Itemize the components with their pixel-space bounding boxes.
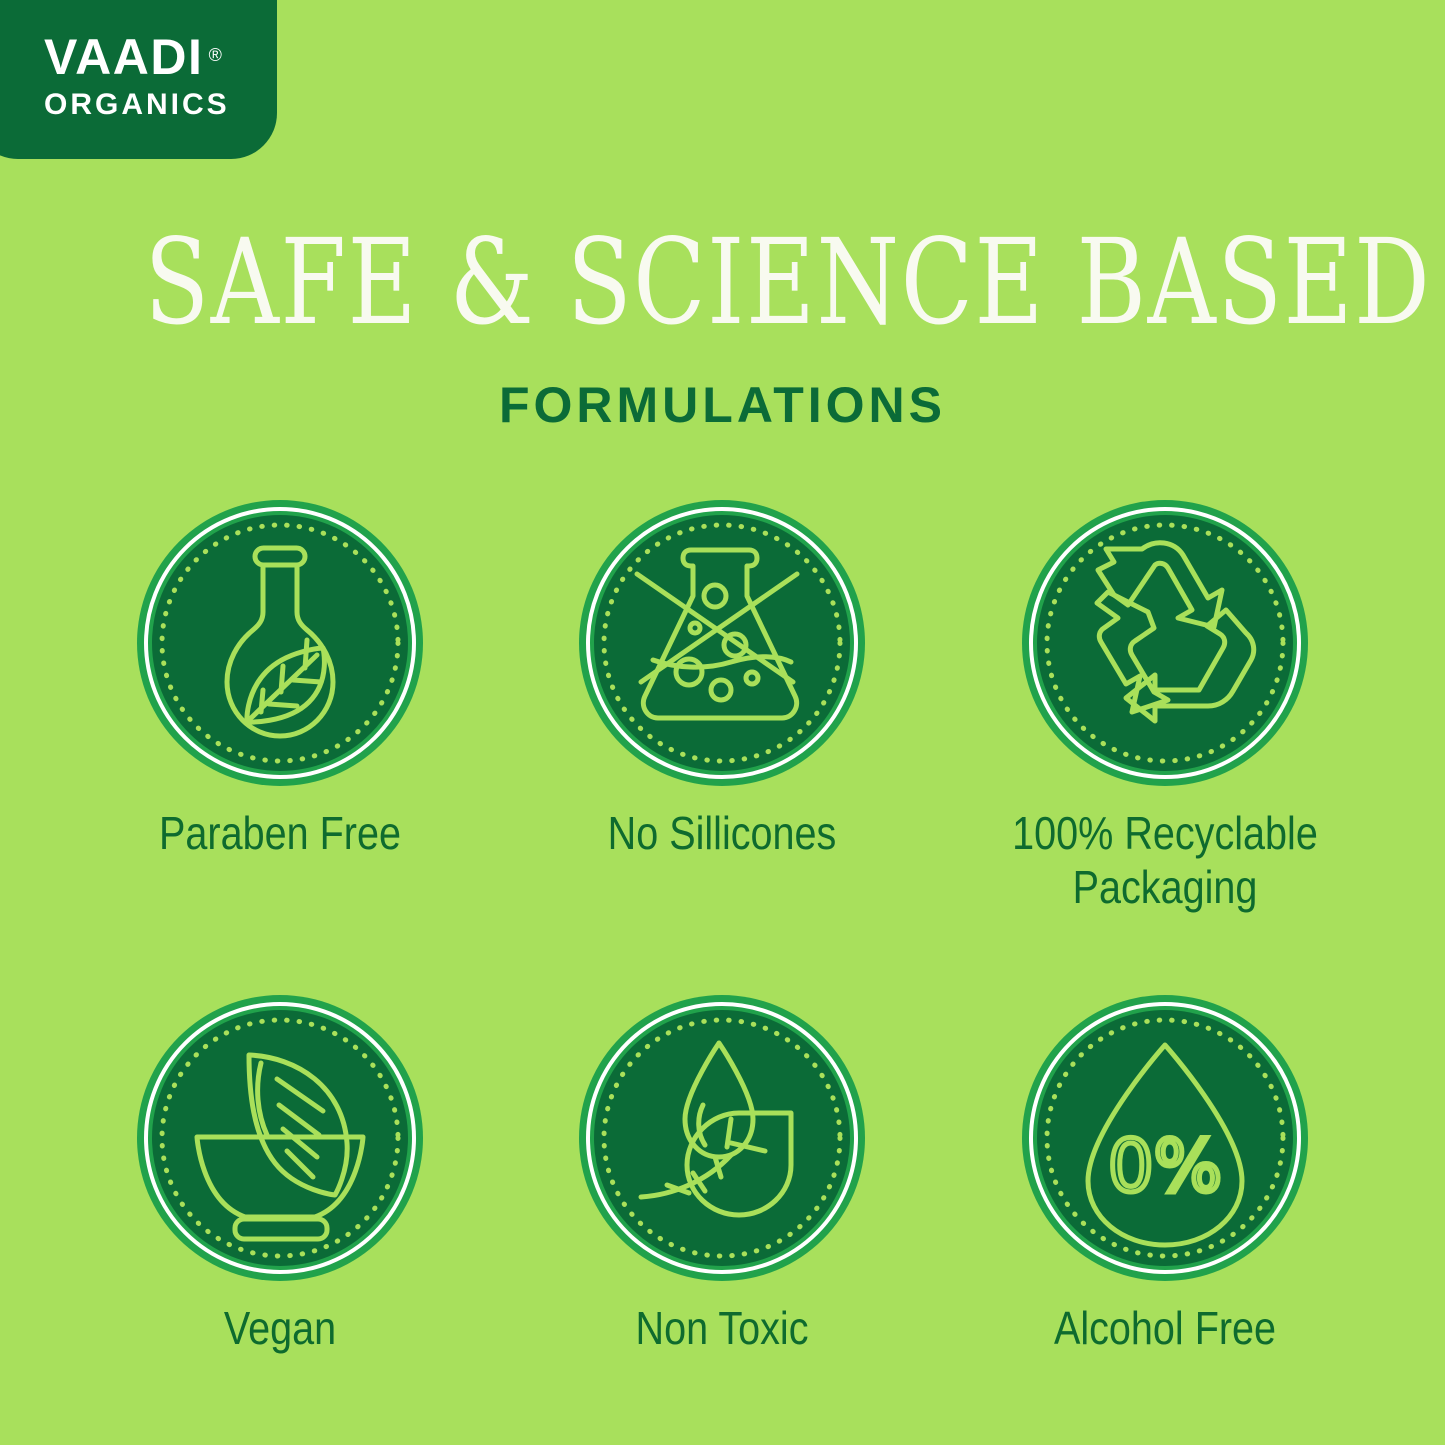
crossed-out-conical-flask-icon xyxy=(579,500,865,786)
flask-with-leaf-icon xyxy=(137,500,423,786)
mortar-bowl-with-leaf-icon xyxy=(137,995,423,1281)
badge-vegan: Vegan xyxy=(70,995,490,1355)
badge-circle xyxy=(1022,500,1308,786)
brand-wordmark-text: VAADI xyxy=(44,29,203,85)
badge-recyclable-packaging: 100% Recyclable Packaging xyxy=(955,500,1375,914)
badge-circle xyxy=(137,500,423,786)
brand-logo: VAADI ® ORGANICS xyxy=(0,0,277,159)
page-title: SAFE & SCIENCE BASED xyxy=(145,222,1301,342)
brand-subtext: ORGANICS xyxy=(44,88,274,122)
badge-circle xyxy=(579,500,865,786)
brand-wordmark: VAADI ® xyxy=(44,32,203,82)
badge-alcohol-free: 0% Alcohol Free xyxy=(955,995,1375,1355)
recycle-arrows-icon xyxy=(1022,500,1308,786)
badge-label: Paraben Free xyxy=(99,806,460,860)
droplet-on-leaf-icon xyxy=(579,995,865,1281)
poster-canvas: VAADI ® ORGANICS SAFE & SCIENCE BASED FO… xyxy=(0,0,1445,1445)
badge-label: Vegan xyxy=(99,1301,460,1355)
zero-percent-label: 0% xyxy=(1108,1124,1222,1208)
badge-label: Non Toxic xyxy=(541,1301,902,1355)
badge-label: 100% Recyclable Packaging xyxy=(984,806,1345,914)
badge-paraben-free: Paraben Free xyxy=(70,500,490,860)
page-subtitle: FORMULATIONS xyxy=(0,378,1445,432)
badge-circle: 0% xyxy=(1022,995,1308,1281)
badge-label: No Sillicones xyxy=(541,806,902,860)
badge-circle xyxy=(579,995,865,1281)
badge-no-sillicones: No Sillicones xyxy=(512,500,932,860)
brand-logo-inner: VAADI ® ORGANICS xyxy=(44,32,274,122)
droplet-zero-percent-icon: 0% xyxy=(1022,995,1308,1281)
badge-circle xyxy=(137,995,423,1281)
badge-non-toxic: Non Toxic xyxy=(512,995,932,1355)
badge-label: Alcohol Free xyxy=(984,1301,1345,1355)
registered-trademark-icon: ® xyxy=(209,30,224,80)
